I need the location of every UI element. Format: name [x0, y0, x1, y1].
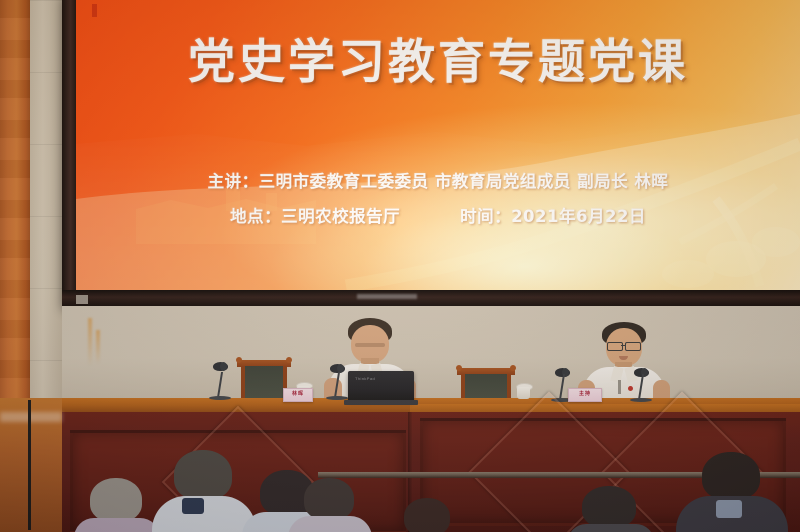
name-placard: 主持	[568, 388, 602, 402]
laptop[interactable]: ThinkPad	[348, 371, 414, 401]
microphone-stand	[559, 374, 565, 400]
party-emblem-badge	[628, 386, 633, 391]
projection-screen: 党史学习教育专题党课 主讲：三明市委教育工委委员 市教育局党组成员 副局长 林晖…	[76, 0, 800, 290]
microphone	[634, 368, 658, 400]
speaker-left-face-shadow	[355, 343, 385, 347]
speaker-right-glasses-bridge	[621, 345, 625, 346]
slide-venue-time-line: 地点：三明农校报告厅时间：2021年6月22日	[76, 209, 800, 226]
chair-knob-right	[286, 357, 292, 363]
name-placard-text: 林晖	[284, 389, 312, 400]
slide-presenter-line: 主讲：三明市委教育工委委员 市教育局党组成员 副局长 林晖	[76, 174, 800, 191]
microphone-head	[213, 362, 228, 371]
teacup	[516, 383, 532, 399]
chair-backrest	[241, 366, 287, 400]
audience-collar	[182, 498, 204, 514]
screen-frame-bottom-bezel	[62, 290, 800, 306]
chair-knob-right	[510, 365, 516, 371]
projection-screen-frame: 党史学习教育专题党课 主讲：三明市委教育工委委员 市教育局党组成员 副局长 林晖…	[62, 0, 800, 306]
audience-shoulders	[152, 496, 256, 532]
audience-member	[676, 452, 788, 532]
audience-collar	[716, 500, 742, 518]
audience-head	[582, 486, 636, 528]
slide-venue-label: 地点：三明农校报告厅	[230, 207, 400, 226]
laptop-base	[344, 400, 418, 405]
audience-head	[404, 498, 450, 532]
wall-stain-mark	[96, 330, 100, 364]
audience-shoulders	[288, 516, 372, 532]
audience-shoulders	[568, 524, 654, 532]
audience-member	[392, 498, 464, 532]
empty-chair	[457, 368, 515, 402]
slide-time-label: 时间：2021年6月22日	[460, 207, 646, 226]
screen-bezel-chip	[76, 295, 88, 304]
audience-shoulders	[74, 518, 160, 532]
speaker-right-shirt-placket	[618, 380, 621, 394]
audience-member	[288, 478, 372, 532]
name-placard-text: 主持	[569, 389, 601, 400]
laptop-brand-mark: ThinkPad	[355, 376, 375, 381]
slide-title: 党史学习教育专题党课	[76, 38, 800, 89]
microphone-base	[209, 396, 231, 400]
slide-subtitle-block: 主讲：三明市委教育工委委员 市教育局党组成员 副局长 林晖 地点：三明农校报告厅…	[76, 174, 800, 225]
microphone-base	[630, 398, 652, 402]
audience-member	[568, 486, 654, 532]
audience-head	[304, 478, 354, 520]
power-cable	[28, 400, 34, 530]
microphone	[213, 362, 237, 398]
audience-member	[74, 478, 160, 532]
speaker-right-glasses-right-lens	[625, 342, 641, 351]
speaker-right-glasses-left-lens	[607, 342, 623, 351]
wall-stain-mark	[88, 318, 92, 366]
chair-knob-left	[456, 365, 462, 371]
audience-head	[90, 478, 142, 522]
microphone-stand	[334, 372, 340, 398]
screen-corner-mark	[92, 4, 97, 17]
name-placard: 林晖	[283, 388, 313, 402]
microphone-stand	[217, 372, 223, 398]
photograph-canvas: 党史学习教育专题党课 主讲：三明市委教育工委委员 市教育局党组成员 副局长 林晖…	[0, 0, 800, 532]
audience-head	[702, 452, 760, 500]
teacup-body	[517, 387, 530, 399]
audience-head	[174, 450, 232, 500]
screen-frame-left-edge	[62, 0, 76, 306]
lower-wall	[62, 306, 800, 410]
audience-member	[152, 450, 256, 532]
microphone-stand	[638, 374, 644, 400]
